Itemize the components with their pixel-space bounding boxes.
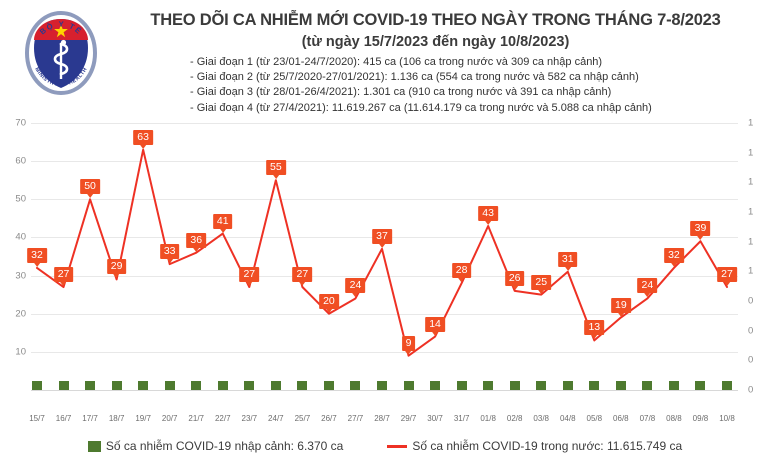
phase-line-3: - Giai đoạn 3 (từ 28/01-26/4/2021): 1.30… <box>190 85 765 100</box>
imported-cases-bar <box>32 381 42 390</box>
data-point-label: 25 <box>531 275 551 290</box>
x-tick-label: 10/8 <box>719 414 735 423</box>
x-tick-label: 02/8 <box>507 414 523 423</box>
phase-line-4: - Giai đoạn 4 (từ 27/4/2021): 11.619.267… <box>190 101 765 116</box>
imported-cases-bar <box>404 381 414 390</box>
x-tick-label: 31/7 <box>454 414 470 423</box>
data-point-label: 50 <box>80 179 100 194</box>
data-point-label: 20 <box>319 294 339 309</box>
imported-cases-bar <box>589 381 599 390</box>
data-point-label: 32 <box>27 248 47 263</box>
green-square-icon <box>88 441 101 452</box>
page-title: THEO DÕI CA NHIỄM MỚI COVID-19 THEO NGÀY… <box>108 10 763 30</box>
imported-cases-bar <box>642 381 652 390</box>
imported-cases-bar <box>722 381 732 390</box>
chart-header: BỘ Y TẾ MINISTRY OF HEALTH THEO DÕI CA N… <box>0 0 770 118</box>
x-tick-label: 22/7 <box>215 414 231 423</box>
data-point-label: 41 <box>213 214 233 229</box>
imported-cases-bar <box>59 381 69 390</box>
data-point-label: 37 <box>372 229 392 244</box>
x-tick-label: 17/7 <box>82 414 98 423</box>
imported-cases-bar <box>112 381 122 390</box>
legend-item-imported: Số ca nhiễm COVID-19 nhập cảnh: 6.370 ca <box>88 439 343 453</box>
imported-cases-bar <box>85 381 95 390</box>
x-tick-label: 08/8 <box>666 414 682 423</box>
data-point-label: 24 <box>346 278 366 293</box>
imported-cases-bar <box>563 381 573 390</box>
imported-cases-bar <box>483 381 493 390</box>
x-tick-label: 18/7 <box>109 414 125 423</box>
chart-legend: Số ca nhiễm COVID-19 nhập cảnh: 6.370 ca… <box>0 434 770 458</box>
title-block: THEO DÕI CA NHIỄM MỚI COVID-19 THEO NGÀY… <box>108 10 763 52</box>
data-point-label: 43 <box>478 206 498 221</box>
imported-cases-bar <box>457 381 467 390</box>
imported-cases-bar <box>218 381 228 390</box>
x-tick-label: 05/8 <box>587 414 603 423</box>
data-point-label: 63 <box>133 130 153 145</box>
data-point-label: 28 <box>452 263 472 278</box>
line-path <box>37 150 727 356</box>
x-tick-label: 15/7 <box>29 414 45 423</box>
x-tick-label: 21/7 <box>188 414 204 423</box>
data-point-label: 27 <box>717 267 737 282</box>
data-point-label: 27 <box>239 267 259 282</box>
imported-cases-bar <box>536 381 546 390</box>
red-line-icon <box>387 445 407 448</box>
x-tick-label: 07/8 <box>640 414 656 423</box>
imported-cases-bar <box>297 381 307 390</box>
data-point-label: 55 <box>266 160 286 175</box>
x-tick-label: 01/8 <box>480 414 496 423</box>
x-tick-label: 03/8 <box>533 414 549 423</box>
x-tick-label: 19/7 <box>135 414 151 423</box>
data-point-label: 36 <box>186 233 206 248</box>
imported-cases-bar <box>669 381 679 390</box>
imported-cases-bar <box>138 381 148 390</box>
data-point-label: 31 <box>558 252 578 267</box>
x-tick-label: 25/7 <box>295 414 311 423</box>
imported-cases-bar <box>695 381 705 390</box>
x-tick-label: 26/7 <box>321 414 337 423</box>
phase-line-2: - Giai đoạn 2 (từ 25/7/2020-27/01/2021):… <box>190 70 765 85</box>
phase-line-1: - Giai đoạn 1 (từ 23/01-24/7/2020): 415 … <box>190 55 765 70</box>
page-subtitle: (từ ngày 15/7/2023 đến ngày 10/8/2023) <box>108 32 763 52</box>
x-tick-label: 04/8 <box>560 414 576 423</box>
x-tick-label: 30/7 <box>427 414 443 423</box>
chart-page: BỘ Y TẾ MINISTRY OF HEALTH THEO DÕI CA N… <box>0 0 770 458</box>
data-point-label: 24 <box>638 278 658 293</box>
ministry-of-health-logo: BỘ Y TẾ MINISTRY OF HEALTH <box>24 10 98 96</box>
imported-cases-bar <box>430 381 440 390</box>
data-point-label: 27 <box>293 267 313 282</box>
x-tick-label: 23/7 <box>242 414 258 423</box>
imported-cases-bar <box>191 381 201 390</box>
data-point-label: 39 <box>691 221 711 236</box>
data-point-label: 27 <box>54 267 74 282</box>
imported-cases-bar <box>165 381 175 390</box>
data-point-label: 26 <box>505 271 525 286</box>
data-point-label: 14 <box>425 317 445 332</box>
data-point-label: 33 <box>160 244 180 259</box>
imported-cases-bar <box>350 381 360 390</box>
imported-cases-bar <box>510 381 520 390</box>
x-tick-label: 20/7 <box>162 414 178 423</box>
x-tick-label: 27/7 <box>348 414 364 423</box>
phase-summary-list: - Giai đoạn 1 (từ 23/01-24/7/2020): 415 … <box>190 55 765 116</box>
chart-plot-area: 10203040506070 0000111111 32275029633336… <box>0 118 770 414</box>
data-point-label: 32 <box>664 248 684 263</box>
data-point-label: 29 <box>107 259 127 274</box>
x-tick-label: 09/8 <box>693 414 709 423</box>
legend-item-domestic: Số ca nhiễm COVID-19 trong nước: 11.615.… <box>387 439 682 453</box>
legend-label-domestic: Số ca nhiễm COVID-19 trong nước: 11.615.… <box>412 439 682 453</box>
data-point-label: 13 <box>584 320 604 335</box>
imported-cases-bar <box>377 381 387 390</box>
imported-cases-bar <box>616 381 626 390</box>
legend-label-imported: Số ca nhiễm COVID-19 nhập cảnh: 6.370 ca <box>106 439 343 453</box>
imported-cases-bar <box>324 381 334 390</box>
data-point-label: 19 <box>611 298 631 313</box>
x-tick-label: 24/7 <box>268 414 284 423</box>
x-tick-label: 16/7 <box>56 414 72 423</box>
x-tick-label: 28/7 <box>374 414 390 423</box>
x-tick-label: 29/7 <box>401 414 417 423</box>
data-point-label: 9 <box>402 336 416 351</box>
x-tick-label: 06/8 <box>613 414 629 423</box>
imported-cases-bar <box>271 381 281 390</box>
imported-cases-bar <box>244 381 254 390</box>
